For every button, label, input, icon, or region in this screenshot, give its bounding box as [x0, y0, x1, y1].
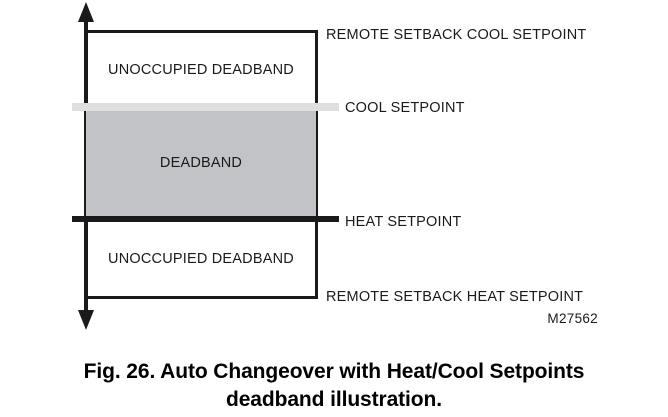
drawing-number: M27562	[430, 311, 598, 326]
callout-heat-setpoint: HEAT SETPOINT	[345, 214, 461, 230]
arrow-down-icon	[78, 310, 94, 330]
callout-remote-setback-heat-setpoint: REMOTE SETBACK HEAT SETPOINT	[326, 289, 583, 305]
deadband-diagram: UNOCCUPIED DEADBAND DEADBAND UNOCCUPIED …	[0, 0, 668, 340]
zone-label-unoccupied-deadband-lower: UNOCCUPIED DEADBAND	[84, 251, 318, 267]
arrow-up-icon	[78, 2, 94, 22]
callout-cool-setpoint: COOL SETPOINT	[345, 100, 465, 116]
heat-setpoint-line	[72, 216, 339, 222]
zone-label-unoccupied-deadband-upper: UNOCCUPIED DEADBAND	[84, 62, 318, 78]
figure-caption-line-2: deadband illustration.	[0, 386, 668, 414]
cool-setpoint-line	[72, 103, 339, 111]
figure-caption-line-1: Fig. 26. Auto Changeover with Heat/Cool …	[0, 358, 668, 386]
zone-label-deadband: DEADBAND	[84, 155, 318, 171]
figure-root: UNOCCUPIED DEADBAND DEADBAND UNOCCUPIED …	[0, 0, 668, 417]
callout-remote-setback-cool-setpoint: REMOTE SETBACK COOL SETPOINT	[326, 27, 586, 43]
figure-caption: Fig. 26. Auto Changeover with Heat/Cool …	[0, 358, 668, 414]
